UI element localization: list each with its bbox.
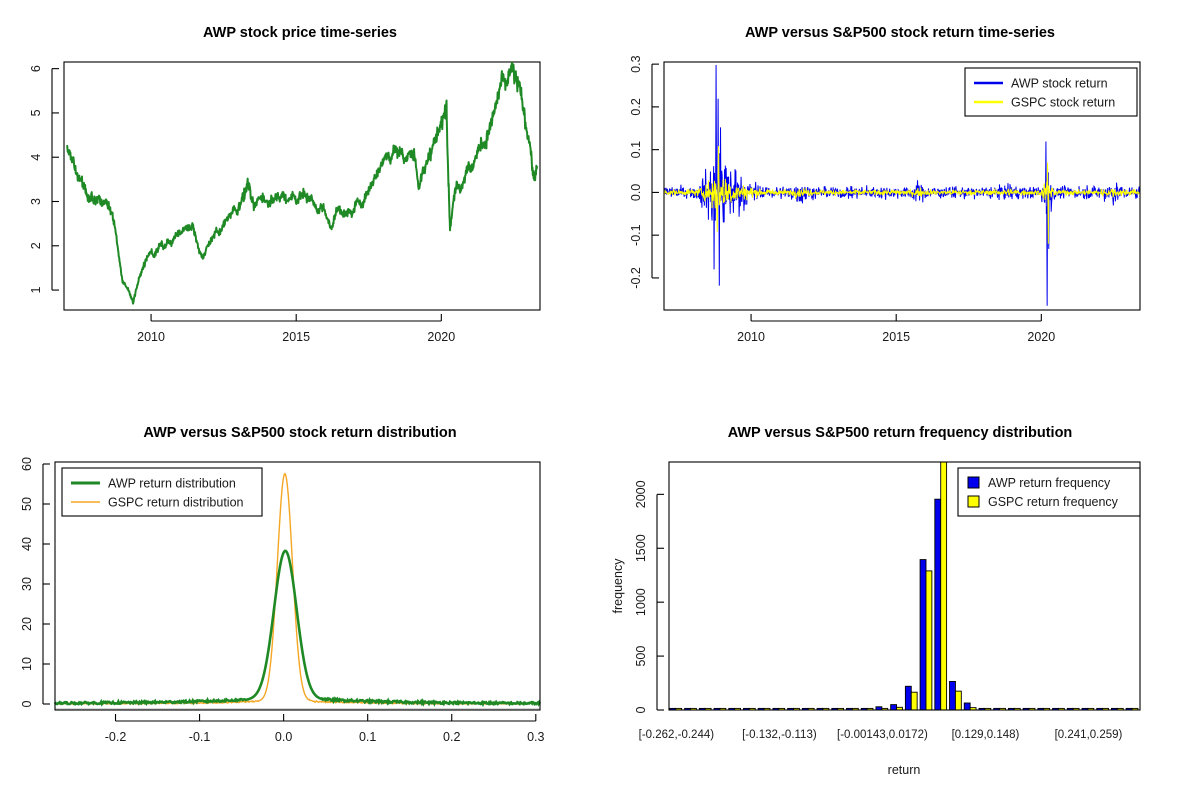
bar-awp-15: [891, 705, 897, 710]
legend-label-1: GSPC return distribution: [108, 496, 244, 510]
x-tick-label: -0.1: [189, 730, 211, 744]
plot-grid: AWP stock price time-series 123456201020…: [0, 0, 1200, 800]
y-tick-label: 0.3: [629, 55, 643, 72]
awp-density-line: [55, 551, 540, 704]
legend-swatch-1: [968, 496, 979, 507]
y-tick-label: 1500: [634, 534, 648, 562]
x-axis-label: return: [888, 763, 921, 777]
y-tick-label: 0.0: [629, 184, 643, 201]
x-bin-label-2: [-0.00143,0.0172): [837, 729, 928, 741]
y-tick-label: 1000: [634, 588, 648, 616]
x-tick-label: 0.1: [359, 730, 376, 744]
bar-gspc-19: [955, 691, 961, 710]
legend[interactable]: AWP return distributionGSPC return distr…: [62, 468, 262, 516]
bar-awp-18: [935, 499, 941, 710]
bar-gspc-18: [941, 462, 947, 710]
x-bin-label-0: [-0.262,-0.244): [639, 729, 715, 741]
legend[interactable]: AWP stock returnGSPC stock return: [965, 68, 1137, 116]
y-tick-label: 0: [634, 706, 648, 713]
y-tick-label: 4: [29, 154, 43, 161]
panel-return-frequency: AWP versus S&P500 return frequency distr…: [600, 400, 1200, 800]
plot-frame: [64, 62, 540, 310]
y-tick-label: 6: [29, 65, 43, 72]
x-tick-label: 2015: [882, 330, 910, 344]
x-tick-label: 0.3: [527, 730, 544, 744]
legend-label-0: AWP stock return: [1011, 77, 1108, 91]
x-tick-label: 2015: [282, 330, 310, 344]
panel-title: AWP versus S&P500 stock return distribut…: [143, 425, 456, 441]
panel-title: AWP stock price time-series: [203, 25, 397, 41]
y-axis-label: frequency: [611, 558, 625, 614]
bar-awp-19: [950, 681, 956, 710]
y-tick-label: 40: [20, 537, 34, 551]
y-tick-label: 30: [20, 577, 34, 591]
awp-price-line: [67, 63, 537, 304]
return-frequency-svg: AWP versus S&P500 return frequency distr…: [600, 400, 1200, 800]
y-tick-label: 0: [20, 700, 34, 707]
legend-label-1: GSPC stock return: [1011, 96, 1115, 110]
bar-awp-17: [920, 560, 926, 710]
x-tick-label: 0.2: [443, 730, 460, 744]
y-tick-label: 5: [29, 109, 43, 116]
y-tick-label: 0.1: [629, 141, 643, 158]
panel-title: AWP versus S&P500 stock return time-seri…: [745, 25, 1055, 41]
awp-price-svg: AWP stock price time-series 123456201020…: [0, 0, 600, 400]
x-tick-label: 0.0: [275, 730, 292, 744]
legend-label-0: AWP return distribution: [108, 477, 236, 491]
x-bin-label-4: [0.241,0.259): [1055, 729, 1123, 741]
panel-return-density: AWP versus S&P500 stock return distribut…: [0, 400, 600, 800]
y-tick-label: 0.2: [629, 98, 643, 115]
y-tick-label: 10: [20, 657, 34, 671]
panel-title: AWP versus S&P500 return frequency distr…: [728, 425, 1073, 441]
bar-gspc-17: [926, 571, 932, 710]
return-timeseries-svg: AWP versus S&P500 stock return time-seri…: [600, 0, 1200, 400]
x-tick-label: 2020: [427, 330, 455, 344]
bar-awp-16: [905, 686, 911, 710]
legend-label-1: GSPC return frequency: [988, 495, 1119, 509]
bar-awp-20: [964, 703, 970, 710]
legend-swatch-0: [968, 477, 979, 488]
panel-return-timeseries: AWP versus S&P500 stock return time-seri…: [600, 0, 1200, 400]
y-tick-label: 50: [20, 497, 34, 511]
x-tick-label: -0.2: [105, 730, 127, 744]
y-tick-label: -0.1: [629, 224, 643, 246]
y-tick-label: 3: [29, 198, 43, 205]
y-tick-label: 1: [29, 287, 43, 294]
legend[interactable]: AWP return frequencyGSPC return frequenc…: [958, 468, 1140, 516]
x-tick-label: 2020: [1027, 330, 1055, 344]
x-bin-label-1: [-0.132,-0.113): [742, 729, 817, 741]
axes: 123456201020152020: [29, 65, 455, 344]
y-tick-label: 60: [20, 457, 34, 471]
x-tick-label: 2010: [737, 330, 765, 344]
axes: 0500100015002000[-0.262,-0.244)[-0.132,-…: [634, 480, 1140, 741]
y-tick-label: 2000: [634, 480, 648, 508]
series-awp-price: [67, 63, 537, 304]
y-tick-label: 500: [634, 646, 648, 667]
bar-gspc-16: [911, 692, 917, 710]
legend-label-0: AWP return frequency: [988, 476, 1111, 490]
panel-awp-price-timeseries: AWP stock price time-series 123456201020…: [0, 0, 600, 400]
x-tick-label: 2010: [137, 330, 165, 344]
x-bin-label-3: [0.129,0.148): [952, 729, 1020, 741]
y-tick-label: -0.2: [629, 267, 643, 289]
y-tick-label: 20: [20, 617, 34, 631]
return-density-svg: AWP versus S&P500 stock return distribut…: [0, 400, 600, 800]
y-tick-label: 2: [29, 242, 43, 249]
